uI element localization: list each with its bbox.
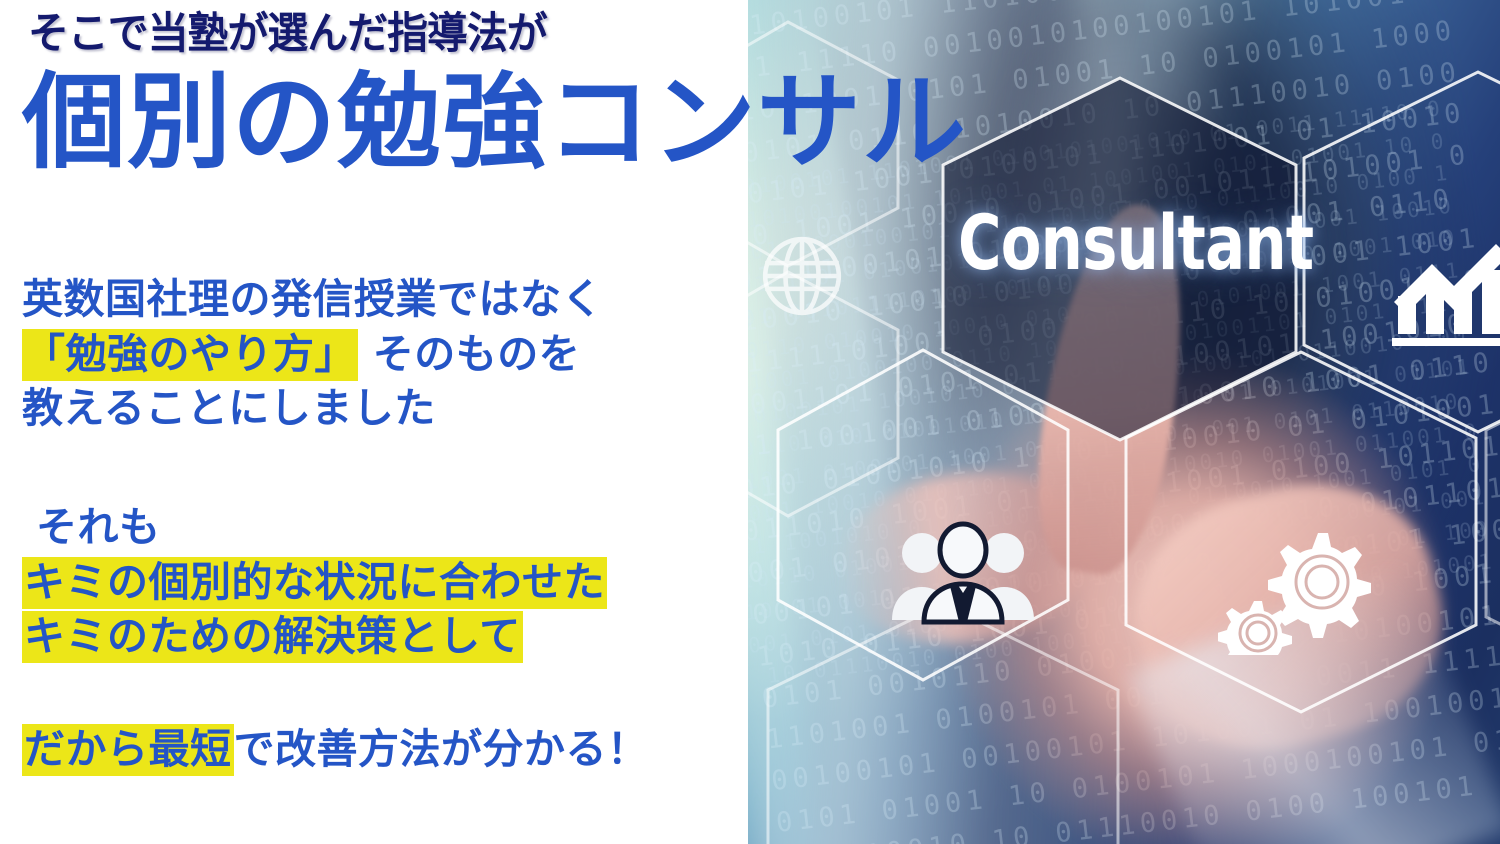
hex-right-lower xyxy=(1486,344,1500,704)
body-a-line3: 教えることにしました xyxy=(22,381,603,436)
highlight-shortest: だから最短 xyxy=(22,724,234,776)
highlight-solution-for-you: キミのための解決策として xyxy=(22,611,523,663)
body-b-line3: キミのための解決策として xyxy=(22,609,607,664)
highlight-study-method: 「勉強のやり方」 xyxy=(22,329,358,381)
gears-icon xyxy=(1218,505,1378,655)
bar-chart-trend-icon xyxy=(1384,240,1500,350)
body-a-line2-rest: そのものを xyxy=(358,330,580,378)
body-a-line1: 英数国社理の発信授業ではなく xyxy=(22,272,603,327)
slide-root: 10010100101 1101001 0100101001010 01 001… xyxy=(0,0,1500,844)
page-title: 個別の勉強コンサル xyxy=(22,66,967,178)
highlight-personal-situation: キミの個別的な状況に合わせた xyxy=(22,557,607,609)
body-block-c: だから最短で改善方法が分かる！ xyxy=(22,722,649,777)
body-a-line2: 「勉強のやり方」 そのものを xyxy=(22,327,603,382)
body-b-line1: それも xyxy=(22,500,607,555)
body-b-line2: キミの個別的な状況に合わせた xyxy=(22,555,607,610)
body-c-line1: だから最短で改善方法が分かる！ xyxy=(22,722,649,777)
copy-panel: そこで当塾が選んだ指導法が 個別の勉強コンサル 英数国社理の発信授業ではなく 「… xyxy=(0,0,960,844)
body-block-a: 英数国社理の発信授業ではなく 「勉強のやり方」 そのものを 教えることにしました xyxy=(22,272,603,436)
body-c-line1-rest: で改善方法が分かる！ xyxy=(234,725,649,773)
body-block-b: それも キミの個別的な状況に合わせた キミのための解決策として xyxy=(22,500,607,664)
kicker-line: そこで当塾が選んだ指導法が xyxy=(28,13,547,56)
consultant-label: Consultant xyxy=(958,205,1223,281)
